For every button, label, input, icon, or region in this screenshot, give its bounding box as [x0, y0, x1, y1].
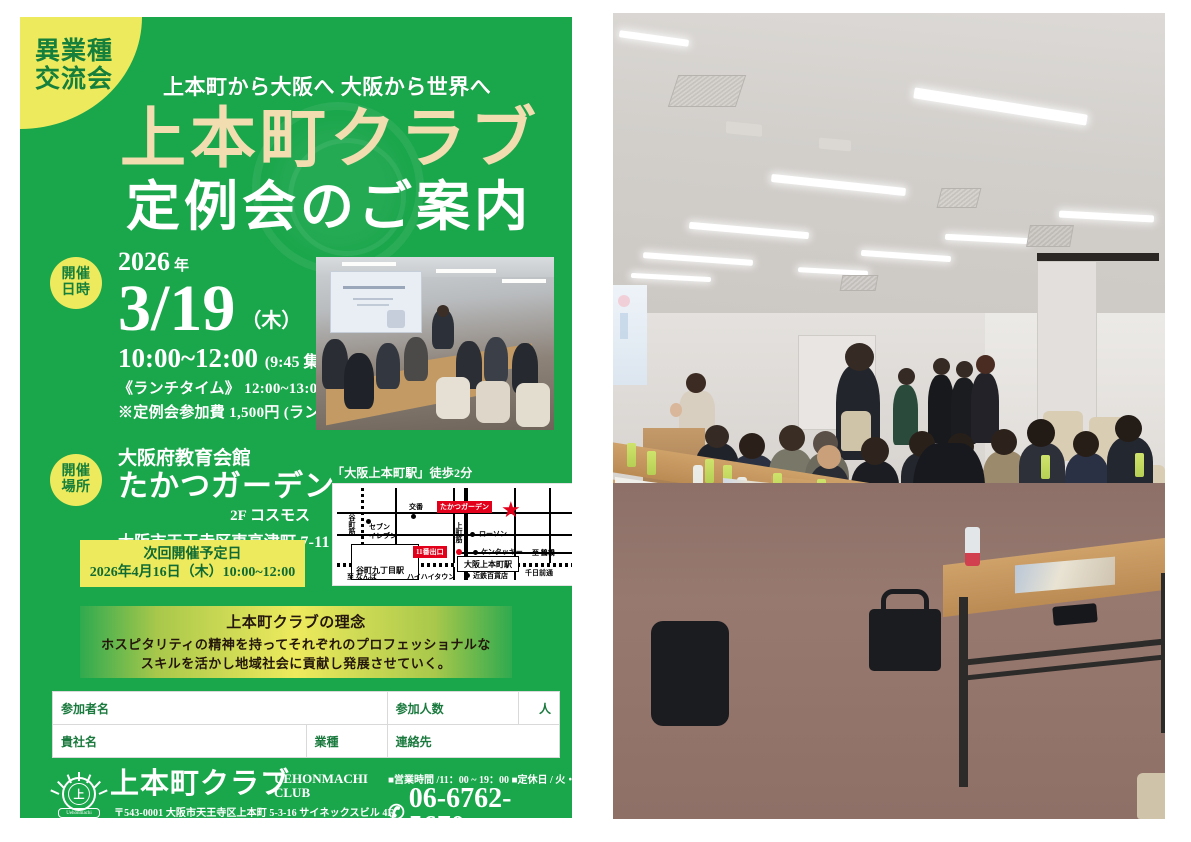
- venue-organization: 大阪府教育会館: [118, 449, 335, 470]
- form-label-industry[interactable]: 業種: [306, 725, 387, 758]
- presenter-hand: [670, 403, 682, 417]
- map-label-kintetsu: 近鉄百貨店: [473, 571, 508, 581]
- venue-floor: 2F コスモス: [118, 504, 310, 525]
- poster-page: 異業種 交流会 上本町から大阪へ 大阪から世界へ 上本町クラブ 定例会のご案内 …: [0, 0, 1191, 842]
- brand-en-line-2: CLUB: [274, 786, 368, 800]
- next-event-box: 次回開催予定日 2026年4月16日（木）10:00~12:00: [80, 540, 305, 587]
- philosophy-box: 上本町クラブの理念 ホスピタリティの精神を持ってそれぞれのプロフェッショナルな …: [80, 606, 512, 678]
- map-caption: 「大阪上本町駅」徒歩2分: [332, 464, 572, 481]
- brand-name-ja: 上本町クラブ: [110, 770, 290, 799]
- map-tag-exit-11: 11番出口: [413, 546, 447, 558]
- access-map: 谷町九丁目駅 大阪上本町駅 谷町筋 上町筋 交番 セブン イレブン ローソン ケ…: [332, 483, 572, 586]
- projector-screen: [330, 271, 422, 333]
- briefcase: [869, 609, 941, 671]
- poster-footer: 上 Uehonmachi 上本町クラブ UEHONMACHI CLUB 〒543…: [52, 769, 560, 818]
- ceiling-vent: [937, 188, 982, 208]
- poster-event-photo: [316, 257, 554, 430]
- next-event-title: 次回開催予定日: [144, 546, 242, 564]
- phone-icon: ✆: [388, 803, 405, 818]
- map-label-seven-eleven-2: イレブン: [369, 531, 397, 541]
- map-label-to-namba: 至 なんば: [347, 572, 377, 582]
- venue-name: たかつガーデン: [118, 470, 335, 504]
- badge-line-1: 異業種: [35, 38, 113, 66]
- person-head: [933, 358, 950, 375]
- brand-en-line-1: UEHONMACHI: [274, 772, 368, 786]
- map-station-uehonmachi: 大阪上本町駅: [457, 556, 519, 572]
- map-label-kentucky: ケンタッキー: [481, 547, 523, 557]
- table-row: 貴社名 業種 連絡先: [53, 725, 560, 758]
- map-tag-takatsu-garden: たかつガーデン: [437, 501, 492, 513]
- person-head: [845, 343, 874, 371]
- badge-line-2: 交流会: [35, 66, 113, 94]
- event-time: 10:00~12:00: [118, 343, 258, 373]
- person-head: [686, 373, 706, 393]
- phone-number: 06-6762-5670: [409, 785, 560, 818]
- place-pill-line-1: 開催: [62, 464, 91, 480]
- form-unit-people: 人: [519, 692, 560, 725]
- ceiling-vent: [668, 75, 746, 107]
- smartphone: [1052, 603, 1097, 626]
- event-day-of-week: （木）: [241, 312, 301, 332]
- application-form-table: 参加者名 参加人数 人 貴社名 業種 連絡先: [52, 691, 560, 758]
- backpack: [651, 621, 729, 726]
- map-label-to-tsuruhashi: 至 鶴橋: [532, 548, 555, 558]
- form-label-company-name[interactable]: 貴社名: [53, 725, 307, 758]
- map-label-tanimachisuji: 谷町筋: [347, 514, 357, 535]
- map-label-koban: 交番: [409, 502, 423, 512]
- place-pill-line-2: 場所: [62, 480, 91, 496]
- ceiling-vent: [1026, 225, 1074, 247]
- form-label-contact[interactable]: 連絡先: [387, 725, 559, 758]
- person-head: [956, 361, 973, 378]
- table-row: 参加者名 参加人数 人: [53, 692, 560, 725]
- map-label-uemachisuji: 上町筋: [454, 522, 464, 543]
- person-head: [976, 355, 995, 374]
- company-address: 〒543-0001 大阪市天王寺区上本町 5-3-16 サイネックスビル 4F: [114, 804, 394, 818]
- date-pill-line-2: 日時: [62, 283, 91, 299]
- place-pill: 開催 場所: [50, 454, 102, 506]
- poster-subtitle: 上本町から大阪へ 大阪から世界へ: [163, 71, 563, 101]
- form-label-participant-name: 参加者名: [53, 692, 388, 725]
- club-logo-icon: 上 Uehonmachi: [54, 771, 104, 818]
- brand-name-en: UEHONMACHI CLUB: [274, 772, 368, 801]
- seminar-room-photograph: [613, 13, 1165, 819]
- map-label-hihai-town: ハイハイタウン: [407, 572, 455, 582]
- date-pill: 開催 日時: [50, 257, 102, 309]
- poster-title-line-1: 上本町クラブ: [120, 107, 570, 173]
- person-head: [898, 368, 915, 385]
- door: [1037, 261, 1097, 436]
- logo-ribbon: Uehonmachi: [58, 808, 100, 818]
- logo-kanji: 上: [68, 783, 90, 805]
- map-label-lawson: ローソン: [479, 529, 507, 539]
- philosophy-line-1: ホスピタリティの精神を持ってそれぞれのプロフェッショナルな: [101, 636, 491, 655]
- next-event-date: 2026年4月16日（木）10:00~12:00: [90, 564, 296, 582]
- philosophy-line-2: スキルを活かし地域社会に貢献し発展させていく。: [141, 655, 452, 674]
- map-label-sennichimae: 千日前通: [525, 568, 553, 578]
- access-map-section: 「大阪上本町駅」徒歩2分 谷町九丁目駅 大阪上本町駅: [332, 464, 572, 583]
- map-star-marker: ★: [501, 499, 521, 521]
- ceiling-vent: [840, 275, 879, 291]
- phone-number-row[interactable]: ✆ 06-6762-5670: [388, 785, 560, 818]
- philosophy-title: 上本町クラブの理念: [226, 611, 366, 632]
- event-poster: 異業種 交流会 上本町から大阪へ 大阪から世界へ 上本町クラブ 定例会のご案内 …: [20, 17, 572, 818]
- form-label-participant-count[interactable]: 参加人数: [387, 692, 519, 725]
- venue-block: 大阪府教育会館 たかつガーデン 2F コスモス 大阪市天王寺区東高津町 7-11: [118, 449, 335, 552]
- poster-title-line-2: 定例会のご案内: [126, 180, 572, 234]
- event-month-day: 3/19: [118, 277, 235, 342]
- date-pill-line-1: 開催: [62, 267, 91, 283]
